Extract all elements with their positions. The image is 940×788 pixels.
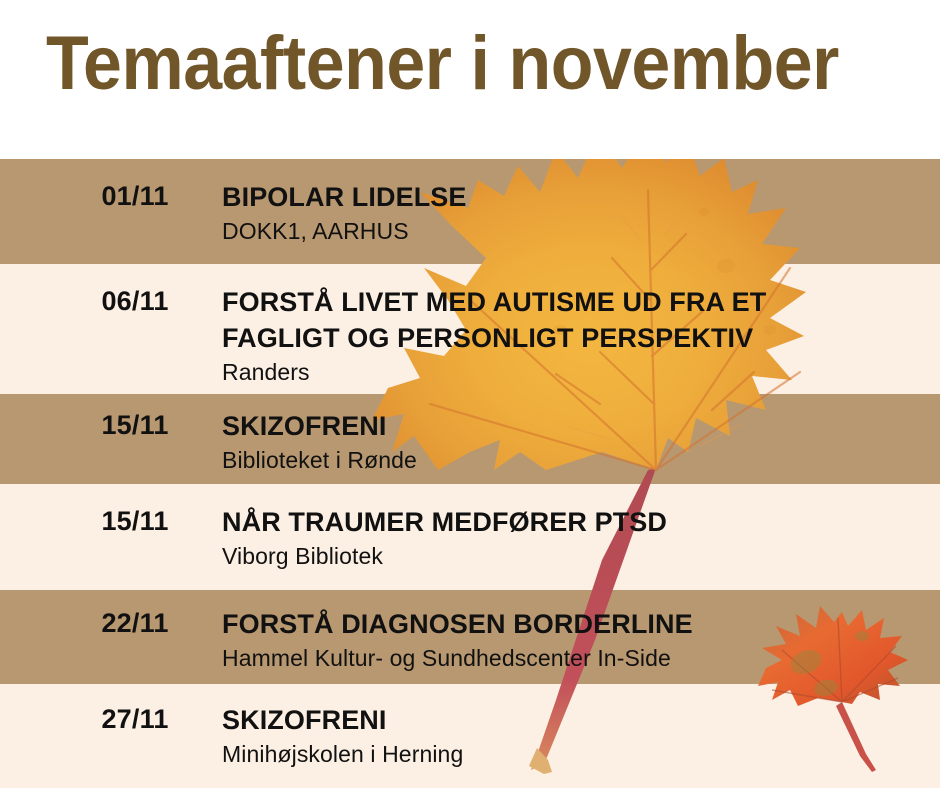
event-title: SKIZOFRENI — [222, 702, 922, 738]
event-venue: Biblioteket i Rønde — [222, 445, 922, 475]
event-venue: DOKK1, AARHUS — [222, 216, 922, 246]
event-title: FORSTÅ LIVET MED AUTISME UD FRA ET FAGLI… — [222, 284, 922, 356]
event-row: 15/11 NÅR TRAUMER MEDFØRER PTSD Viborg B… — [0, 484, 940, 590]
event-body: SKIZOFRENI Minihøjskolen i Herning — [222, 702, 922, 769]
event-title: FORSTÅ DIAGNOSEN BORDERLINE — [222, 606, 922, 642]
event-title: NÅR TRAUMER MEDFØRER PTSD — [222, 504, 922, 540]
event-body: SKIZOFRENI Biblioteket i Rønde — [222, 408, 922, 475]
event-body: BIPOLAR LIDELSE DOKK1, AARHUS — [222, 179, 922, 246]
event-date: 15/11 — [60, 506, 210, 537]
event-row: 06/11 FORSTÅ LIVET MED AUTISME UD FRA ET… — [0, 264, 940, 394]
event-venue: Viborg Bibliotek — [222, 541, 922, 571]
event-date: 27/11 — [60, 704, 210, 735]
event-row: 27/11 SKIZOFRENI Minihøjskolen i Herning — [0, 684, 940, 788]
event-row: 22/11 FORSTÅ DIAGNOSEN BORDERLINE Hammel… — [0, 590, 940, 684]
event-venue: Minihøjskolen i Herning — [222, 739, 922, 769]
event-date: 22/11 — [60, 608, 210, 639]
event-row: 15/11 SKIZOFRENI Biblioteket i Rønde — [0, 394, 940, 484]
event-row: 01/11 BIPOLAR LIDELSE DOKK1, AARHUS — [0, 159, 940, 264]
event-venue: Randers — [222, 357, 922, 387]
event-title: SKIZOFRENI — [222, 408, 922, 444]
page-title: Temaaftener i november — [46, 22, 837, 106]
title-area: Temaaftener i november — [0, 0, 940, 159]
event-poster: Temaaftener i november 01/11 BIPOLAR LID… — [0, 0, 940, 788]
event-title: BIPOLAR LIDELSE — [222, 179, 922, 215]
event-body: FORSTÅ DIAGNOSEN BORDERLINE Hammel Kultu… — [222, 606, 922, 673]
event-date: 01/11 — [60, 181, 210, 212]
event-date: 06/11 — [60, 286, 210, 317]
event-body: FORSTÅ LIVET MED AUTISME UD FRA ET FAGLI… — [222, 284, 922, 387]
event-venue: Hammel Kultur- og Sundhedscenter In-Side — [222, 643, 922, 673]
event-date: 15/11 — [60, 410, 210, 441]
event-body: NÅR TRAUMER MEDFØRER PTSD Viborg Bibliot… — [222, 504, 922, 571]
